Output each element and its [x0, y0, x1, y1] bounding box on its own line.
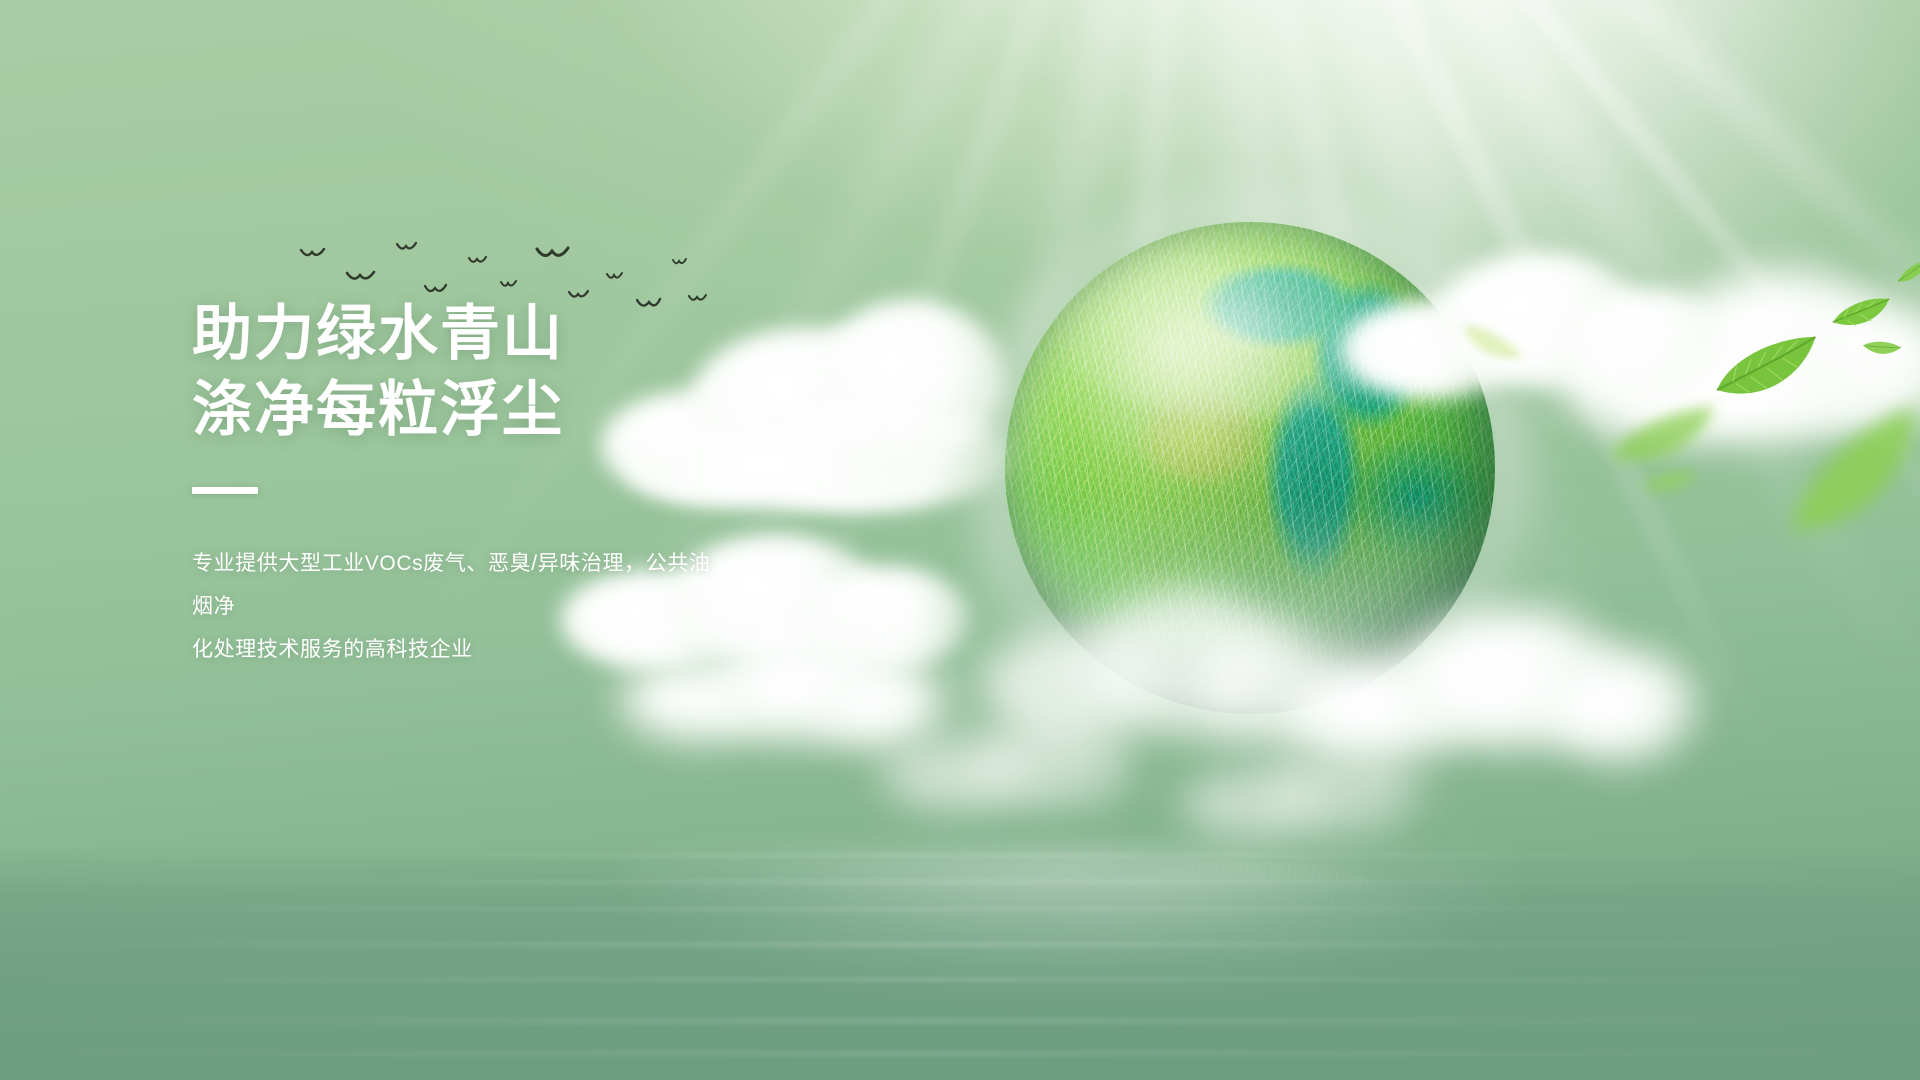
cloud-waterline-right	[1180, 735, 1460, 845]
subtitle-line-2: 化处理技术服务的高科技企业	[192, 628, 732, 671]
water-ripple	[0, 1052, 1920, 1055]
bird-icon	[346, 270, 376, 288]
bird-icon	[606, 272, 624, 284]
cloud-waterline-left	[880, 700, 1180, 820]
subtitle: 专业提供大型工业VOCs废气、恶臭/异味治理，公共油烟净 化处理技术服务的高科技…	[192, 542, 732, 671]
bird-icon	[468, 256, 488, 269]
headline: 助力绿水青山 涤净每粒浮尘	[192, 296, 912, 447]
leaf-small-right	[1860, 335, 1903, 362]
headline-line-1: 助力绿水青山	[192, 296, 912, 372]
subtitle-line-1: 专业提供大型工业VOCs废气、恶臭/异味治理，公共油烟净	[192, 542, 732, 628]
bird-icon	[300, 248, 326, 264]
globe-rim-shading	[1005, 222, 1495, 714]
leaf-blurred-small	[1639, 468, 1701, 498]
earth-globe	[1005, 222, 1495, 714]
bird-icon	[536, 246, 570, 266]
bird-icon	[500, 280, 518, 292]
hero-copy: 助力绿水青山 涤净每粒浮尘 专业提供大型工业VOCs废气、恶臭/异味治理，公共油…	[192, 296, 912, 671]
headline-divider	[192, 487, 258, 494]
bird-icon	[672, 258, 688, 269]
leaf-sharp-center	[1705, 328, 1834, 416]
leaf-small-topright	[1893, 258, 1920, 288]
globe-sphere	[1005, 222, 1495, 714]
hero-banner: 助力绿水青山 涤净每粒浮尘 专业提供大型工业VOCs废气、恶臭/异味治理，公共油…	[0, 0, 1920, 1080]
leaf-sharp-upper	[1828, 294, 1897, 337]
water-ripple	[0, 1018, 1920, 1024]
leaf-blurred-bottom	[1763, 397, 1920, 564]
bird-icon	[396, 242, 418, 256]
headline-line-2: 涤净每粒浮尘	[192, 372, 912, 448]
leaf-blurred-left	[1600, 399, 1729, 480]
water-highlight	[620, 850, 1520, 990]
